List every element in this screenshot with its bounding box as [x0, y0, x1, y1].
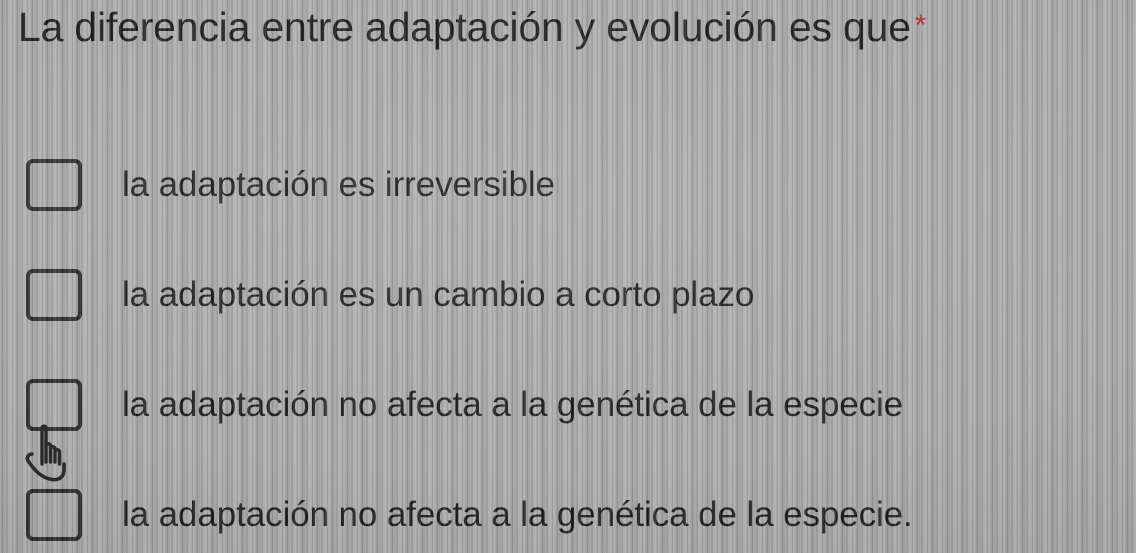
option-row-1[interactable]: la adaptación es un cambio a corto plazo [0, 240, 1136, 350]
checkbox-option-2[interactable] [26, 379, 82, 431]
checkbox-option-1[interactable] [26, 269, 82, 321]
option-label-3: la adaptación no afecta a la genética de… [122, 496, 913, 535]
options-list: la adaptación es irreversible la adaptac… [0, 130, 1136, 553]
quiz-screen: La diferencia entre adaptación y evoluci… [0, 0, 1136, 553]
checkbox-option-3[interactable] [26, 489, 82, 541]
checkbox-option-0[interactable] [26, 159, 82, 211]
option-label-0: la adaptación es irreversible [122, 166, 555, 205]
option-row-2[interactable]: la adaptación no afecta a la genética de… [0, 350, 1136, 460]
question-text: La diferencia entre adaptación y evoluci… [18, 4, 1128, 51]
option-row-0[interactable]: la adaptación es irreversible [0, 130, 1136, 240]
required-asterisk: * [915, 9, 926, 42]
question-label: La diferencia entre adaptación y evoluci… [18, 4, 911, 50]
option-label-2: la adaptación no afecta a la genética de… [122, 386, 903, 425]
option-row-3[interactable]: la adaptación no afecta a la genética de… [0, 460, 1136, 553]
option-label-1: la adaptación es un cambio a corto plazo [122, 276, 754, 315]
